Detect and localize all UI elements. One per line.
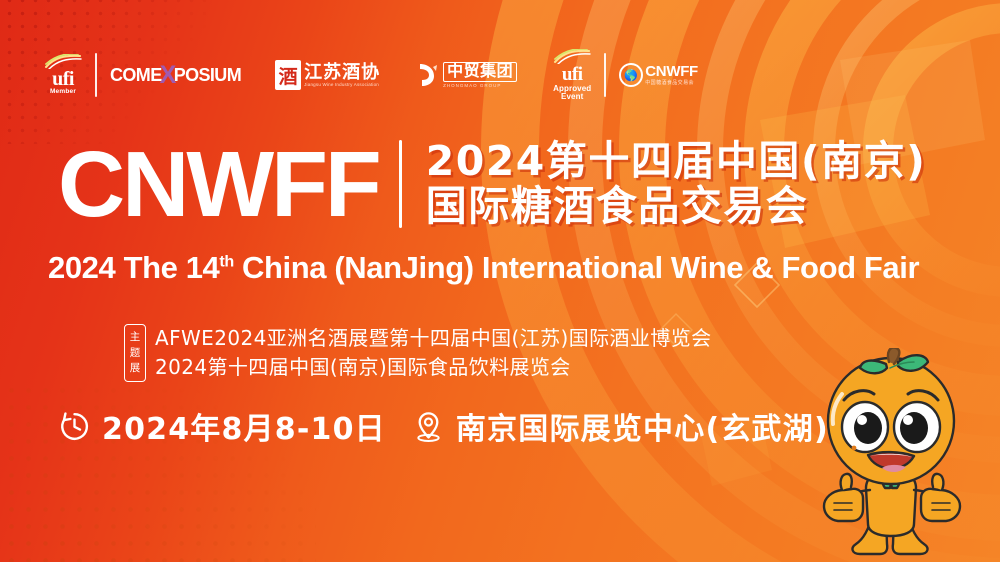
- event-date: 2024年8月8-10日: [102, 404, 386, 448]
- english-subtitle-before: 2024 The 14: [48, 250, 219, 285]
- ufi-swoosh-icon: [44, 54, 82, 69]
- theme-badge: 主 题 展: [124, 324, 146, 382]
- headline-chinese-line2: 国际糖酒食品交易会: [426, 185, 927, 228]
- ufi-wordmark: ufi: [52, 70, 74, 89]
- english-subtitle-ordinal: th: [219, 253, 233, 271]
- jiangsu-association-name: 江苏酒协: [304, 63, 380, 82]
- ufi-member-logo: ufi Member: [44, 50, 82, 100]
- event-venue-item: 南京国际展览中心(玄武湖): [412, 404, 829, 448]
- zhongmao-group-logo: 中贸集团 ZHONGMAO GROUP: [416, 50, 517, 100]
- jiangsu-wine-association-logo: 酒 江苏酒协 Jiangsu Wine Industry Association: [275, 50, 380, 100]
- event-info-row: 2024年8月8-10日 南京国际展览中心(玄武湖): [58, 404, 829, 448]
- theme-badge-char: 题: [130, 348, 141, 359]
- comexposium-part2: POSIUM: [174, 65, 241, 86]
- jiangsu-seal-icon: 酒: [275, 60, 301, 90]
- orange-mascot-thumbs-up: [786, 348, 998, 562]
- ufi-approved-wordmark: ufi: [562, 65, 583, 84]
- event-venue: 南京国际展览中心(玄武湖): [456, 404, 829, 448]
- theme-line-1: AFWE2024亚洲名酒展暨第十四届中国(江苏)国际酒业博览会: [155, 326, 712, 352]
- event-banner: ufi Member COME X POSIUM 酒 江苏酒协 Jiangsu …: [0, 0, 1000, 562]
- comexposium-logo: COME X POSIUM: [110, 50, 241, 100]
- headline-divider: [399, 140, 402, 228]
- ufi-approved-line3: Event: [561, 93, 583, 101]
- cnwff-logo: 🌎 CNWFF 中国糖酒食品交易会: [619, 50, 698, 100]
- partner-logo-strip: ufi Member COME X POSIUM 酒 江苏酒协 Jiangsu …: [44, 50, 698, 100]
- headline-chinese-line1: 2024第十四届中国(南京): [426, 140, 927, 183]
- logo-divider: [95, 53, 97, 97]
- cnwff-logo-name-cn: 中国糖酒食品交易会: [645, 79, 698, 86]
- zhongmao-name: 中贸集团: [443, 62, 517, 82]
- theme-line-2: 2024第十四届中国(南京)国际食品饮料展览会: [155, 355, 712, 381]
- location-pin-icon: [412, 410, 445, 443]
- comexposium-part1: COME: [110, 65, 162, 86]
- logo-divider: [604, 53, 606, 97]
- event-date-item: 2024年8月8-10日: [58, 404, 386, 448]
- zhongmao-name-en: ZHONGMAO GROUP: [443, 83, 517, 88]
- clock-icon: [58, 410, 91, 443]
- zhongmao-emblem-icon: [416, 61, 440, 89]
- headline-block: CNWFF 2024第十四届中国(南京) 国际糖酒食品交易会: [58, 140, 926, 229]
- page-title: CNWFF: [58, 141, 379, 228]
- ufi-approved-event-logo: ufi Approved Event: [553, 50, 591, 100]
- theme-badge-char: 主: [130, 332, 141, 343]
- english-subtitle: 2024 The 14th China (NanJing) Internatio…: [48, 250, 919, 286]
- english-subtitle-after: China (NanJing) International Wine & Foo…: [234, 250, 919, 285]
- cnwff-globe-icon: 🌎: [619, 63, 643, 87]
- ufi-member-label: Member: [50, 89, 76, 96]
- theme-badge-char: 展: [130, 363, 141, 374]
- theme-exhibitions: 主 题 展 AFWE2024亚洲名酒展暨第十四届中国(江苏)国际酒业博览会 20…: [124, 324, 712, 382]
- ufi-approved-swoosh-icon: [553, 49, 591, 64]
- jiangsu-association-name-en: Jiangsu Wine Industry Association: [304, 82, 380, 87]
- cnwff-logo-acronym: CNWFF: [645, 64, 698, 79]
